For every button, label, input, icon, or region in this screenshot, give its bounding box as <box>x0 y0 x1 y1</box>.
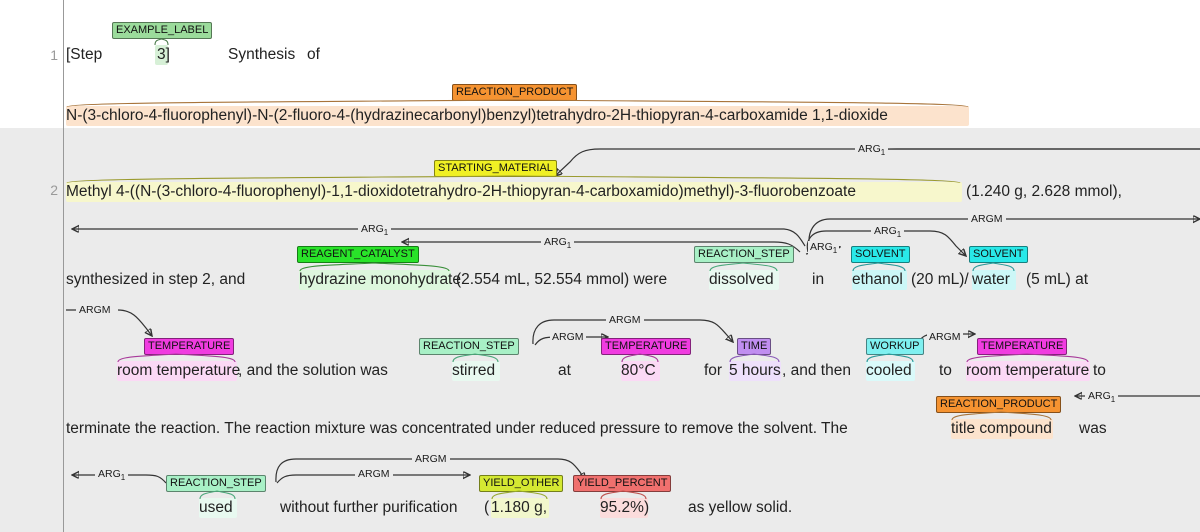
token: ( <box>484 499 489 517</box>
token: (20 mL)/ <box>911 271 969 289</box>
relation-label-arg1: ARG1 <box>358 223 391 239</box>
token: 5 hours <box>729 362 781 380</box>
token: without further purification <box>280 499 457 517</box>
token: Methyl 4-((N-(3-chloro-4-fluorophenyl)-1… <box>66 183 856 201</box>
token: in <box>812 271 824 289</box>
line-number: 2 <box>38 182 58 198</box>
token: [Step <box>66 46 102 64</box>
token: to <box>1093 362 1106 380</box>
token: cooled <box>866 362 912 380</box>
token: 95.2% <box>600 499 644 517</box>
entity-chip-solvent-ethanol[interactable]: SOLVENT <box>851 246 910 263</box>
token: as yellow solid. <box>688 499 792 517</box>
relation-label-argm: ARGM <box>412 453 450 465</box>
entity-chip-example-label[interactable]: EXAMPLE_LABEL <box>112 22 212 39</box>
token: (2.554 mL, 52.554 mmol) were <box>456 271 667 289</box>
relation-label-argm: ARGM <box>76 304 114 316</box>
token: hydrazine monohydrate <box>299 271 461 289</box>
token: to <box>939 362 952 380</box>
line-number: 1 <box>38 47 58 63</box>
entity-chip-reaction-step[interactable]: REACTION_STEP <box>694 246 794 263</box>
relation-label-arg1: ARG1 <box>808 241 839 257</box>
token: for <box>704 362 722 380</box>
token: at <box>558 362 571 380</box>
relation-label-arg1: ARG1 <box>855 143 888 159</box>
entity-chip-solvent-water[interactable]: SOLVENT <box>969 246 1028 263</box>
relation-label-argm: ARGM <box>606 314 644 326</box>
relation-label-argm: ARGM <box>550 331 586 343</box>
token: 80°C <box>621 362 656 380</box>
token: used <box>199 499 233 517</box>
token: room temperature <box>117 362 240 380</box>
token: Synthesis <box>228 46 295 64</box>
token: , and the solution was <box>238 362 388 380</box>
token: synthesized in step 2, and <box>66 271 245 289</box>
token: dissolved <box>709 271 774 289</box>
token: stirred <box>452 362 495 380</box>
token: water <box>972 271 1010 289</box>
token: 3] <box>157 46 170 64</box>
relation-label-arg1: ARG1 <box>1085 390 1118 406</box>
relation-label-arg1: ARG1 <box>871 225 904 241</box>
token: (1.240 g, 2.628 mmol), <box>966 183 1122 201</box>
entity-chip-reagent-catalyst[interactable]: REAGENT_CATALYST <box>297 246 419 263</box>
relation-label-arg1: ARG1 <box>541 236 574 252</box>
token: ethanol <box>852 271 903 289</box>
entity-brace-example-label <box>154 38 172 46</box>
relation-arcs-layer <box>0 0 1200 532</box>
token: room temperature <box>966 362 1089 380</box>
relation-label-arg1: ARG1 <box>95 468 128 484</box>
token: , and then <box>782 362 851 380</box>
token: (5 mL) at <box>1026 271 1088 289</box>
relation-label-argm: ARGM <box>927 331 963 343</box>
token: 1.180 g, <box>491 499 547 517</box>
token: was <box>1079 420 1107 438</box>
token: terminate the reaction. The reaction mix… <box>66 420 848 438</box>
relation-label-argm: ARGM <box>968 213 1006 225</box>
token: of <box>307 46 320 64</box>
token: ) <box>644 499 649 517</box>
token: title compound <box>951 420 1052 438</box>
annotation-canvas: 1 EXAMPLE_LABEL [Step 3] Synthesis of RE… <box>0 0 1200 532</box>
token: N-(3-chloro-4-fluorophenyl)-N-(2-fluoro-… <box>66 107 888 125</box>
relation-label-argm: ARGM <box>355 468 393 480</box>
arc-arg1-reactionstep-left <box>72 229 805 246</box>
